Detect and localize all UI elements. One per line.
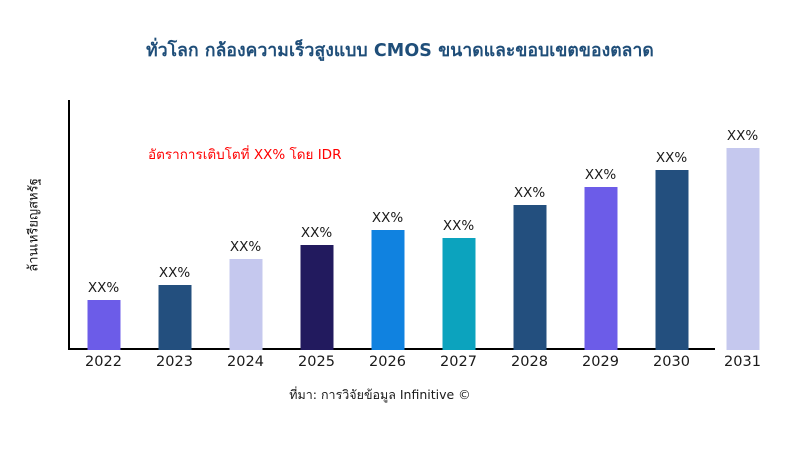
bar-2025[interactable] [300,245,333,350]
bar-value-label-2025: XX% [301,225,332,241]
bar-slot: XX% [352,100,423,350]
y-axis-label: ล้านเหรียญสหรัฐ [21,100,45,350]
bar-2029[interactable] [584,187,617,350]
bar-value-label-2026: XX% [372,210,403,226]
x-tick-2023: 2023 [139,354,210,370]
x-tick-2029: 2029 [565,354,636,370]
bar-2030[interactable] [655,170,688,350]
bar-2028[interactable] [513,205,546,350]
x-tick-2024: 2024 [210,354,281,370]
bar-slot: XX% [281,100,352,350]
bar-2022[interactable] [87,300,120,350]
x-tick-2022: 2022 [68,354,139,370]
bar-2027[interactable] [442,238,475,350]
source-caption: ที่มา: การวิจัยข้อมูล Infinitive © [0,385,760,405]
bar-slot: XX% [565,100,636,350]
bar-slot: XX% [707,100,778,350]
bar-value-label-2027: XX% [443,218,474,234]
bar-slot: XX% [423,100,494,350]
bar-slot: XX% [636,100,707,350]
bar-value-label-2022: XX% [88,280,119,296]
x-tick-2028: 2028 [494,354,565,370]
page-title: ทั่วโลก กล้องความเร็วสูงแบบ CMOS ขนาดและ… [0,36,800,64]
bar-value-label-2029: XX% [585,167,616,183]
bar-2024[interactable] [229,259,262,350]
bar-slot: XX% [210,100,281,350]
bar-slot: XX% [68,100,139,350]
bar-2026[interactable] [371,230,404,350]
bar-value-label-2024: XX% [230,239,261,255]
x-tick-2025: 2025 [281,354,352,370]
x-tick-2031: 2031 [707,354,778,370]
bar-slot: XX% [494,100,565,350]
x-axis-tick-labels: 2022202320242025202620272028202920302031 [68,354,780,378]
x-tick-2026: 2026 [352,354,423,370]
bar-series: XX%XX%XX%XX%XX%XX%XX%XX%XX%XX% [68,100,780,350]
chart-page: ทั่วโลก กล้องความเร็วสูงแบบ CMOS ขนาดและ… [0,0,800,450]
bar-value-label-2028: XX% [514,185,545,201]
x-tick-2030: 2030 [636,354,707,370]
bar-slot: XX% [139,100,210,350]
bar-2031[interactable] [726,148,759,350]
bar-value-label-2031: XX% [727,128,758,144]
bar-2023[interactable] [158,285,191,350]
y-axis-label-text: ล้านเหรียญสหรัฐ [23,178,44,272]
bar-value-label-2023: XX% [159,265,190,281]
plot-area: อัตราการเติบโตที่ XX% โดย IDR XX%XX%XX%X… [68,100,780,350]
x-tick-2027: 2027 [423,354,494,370]
bar-value-label-2030: XX% [656,150,687,166]
